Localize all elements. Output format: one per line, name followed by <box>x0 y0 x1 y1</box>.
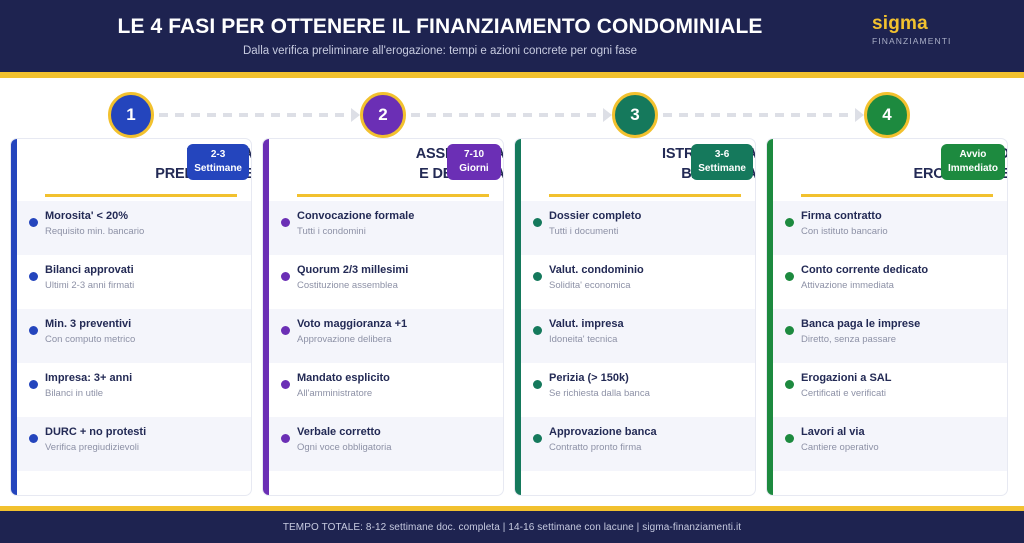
checklist-item[interactable]: Erogazioni a SALCertificati e verificati <box>773 363 1008 417</box>
checklist-item-subtitle: Bilanci in utile <box>45 388 243 399</box>
checklist-item[interactable]: Approvazione bancaContratto pronto firma <box>521 417 756 471</box>
header-title-group: LE 4 FASI PER OTTENERE IL FINANZIAMENTO … <box>0 0 880 72</box>
checklist-item-title: Conto corrente dedicato <box>801 264 999 277</box>
timeline-node-label: 3 <box>630 105 639 125</box>
checklist-item-title: Banca paga le imprese <box>801 318 999 331</box>
bullet-dot-icon <box>29 434 38 443</box>
checklist-item-subtitle: Ogni voce obbligatoria <box>297 442 495 453</box>
timeline-node-3[interactable]: 3 <box>612 92 658 138</box>
checklist-item-subtitle: Costituzione assemblea <box>297 280 495 291</box>
phase-duration-badge: 3-6Settimane <box>691 144 753 180</box>
phase-cards-container: VERIFICAPRELIMINARE2-3SettimaneMorosita'… <box>0 138 1024 500</box>
checklist-item[interactable]: Min. 3 preventiviCon computo metrico <box>17 309 252 363</box>
checklist-item[interactable]: Perizia (> 150k)Se richiesta dalla banca <box>521 363 756 417</box>
phase-card-3[interactable]: ISTRUTTORIABANCARIA3-6SettimaneDossier c… <box>514 138 756 496</box>
checklist-item[interactable]: Convocazione formaleTutti i condomini <box>269 201 504 255</box>
phase-card-header: FIRMA EDEROGAZIONEAvvioImmediato <box>773 139 1008 197</box>
checklist-item[interactable]: Conto corrente dedicatoAttivazione immed… <box>773 255 1008 309</box>
checklist-item-title: Valut. condominio <box>549 264 747 277</box>
bullet-dot-icon <box>29 326 38 335</box>
timeline-node-4[interactable]: 4 <box>864 92 910 138</box>
checklist-item-subtitle: Cantiere operativo <box>801 442 999 453</box>
brand-logo: sigma FINANZIAMENTI <box>872 14 1002 46</box>
brand-logo-name: sigma <box>872 14 1002 33</box>
checklist-item-subtitle: Tutti i documenti <box>549 226 747 237</box>
phase-checklist: Convocazione formaleTutti i condominiQuo… <box>269 201 504 471</box>
phase-checklist: Morosita' < 20%Requisito min. bancarioBi… <box>17 201 252 471</box>
phase-duration-value: Avvio <box>948 148 998 162</box>
checklist-item[interactable]: Mandato esplicitoAll'amministratore <box>269 363 504 417</box>
checklist-item-subtitle: Solidita' economica <box>549 280 747 291</box>
checklist-item-title: Lavori al via <box>801 426 999 439</box>
phase-duration-badge: 2-3Settimane <box>187 144 249 180</box>
checklist-item-subtitle: Diretto, senza passare <box>801 334 999 345</box>
phase-duration-unit: Immediato <box>948 162 998 176</box>
checklist-item[interactable]: Impresa: 3+ anniBilanci in utile <box>17 363 252 417</box>
checklist-item-title: Min. 3 preventivi <box>45 318 243 331</box>
checklist-item[interactable]: Valut. impresaIdoneita' tecnica <box>521 309 756 363</box>
phase-card-header: VERIFICAPRELIMINARE2-3Settimane <box>17 139 252 197</box>
checklist-item-subtitle: Contratto pronto firma <box>549 442 747 453</box>
bullet-dot-icon <box>29 218 38 227</box>
timeline-node-2[interactable]: 2 <box>360 92 406 138</box>
checklist-item[interactable]: Dossier completoTutti i documenti <box>521 201 756 255</box>
phase-checklist: Firma contrattoCon istituto bancarioCont… <box>773 201 1008 471</box>
phase-duration-badge: 7-10Giorni <box>447 144 501 180</box>
phase-timeline: 1234 <box>0 92 1024 144</box>
bullet-dot-icon <box>785 326 794 335</box>
checklist-item[interactable]: Bilanci approvatiUltimi 2-3 anni firmati <box>17 255 252 309</box>
phase-checklist: Dossier completoTutti i documentiValut. … <box>521 201 756 471</box>
bullet-dot-icon <box>533 434 542 443</box>
header-accent-bar <box>0 72 1024 78</box>
checklist-item-subtitle: Idoneita' tecnica <box>549 334 747 345</box>
bullet-dot-icon <box>29 272 38 281</box>
phase-duration-unit: Settimane <box>698 162 746 176</box>
phase-card-header: ISTRUTTORIABANCARIA3-6Settimane <box>521 139 756 197</box>
bullet-dot-icon <box>281 380 290 389</box>
bullet-dot-icon <box>281 272 290 281</box>
page-title: LE 4 FASI PER OTTENERE IL FINANZIAMENTO … <box>118 15 763 38</box>
bullet-dot-icon <box>785 434 794 443</box>
checklist-item[interactable]: Firma contrattoCon istituto bancario <box>773 201 1008 255</box>
checklist-item-subtitle: Verifica pregiudizievoli <box>45 442 243 453</box>
checklist-item-title: Convocazione formale <box>297 210 495 223</box>
timeline-connector-2 <box>411 113 603 117</box>
checklist-item[interactable]: Valut. condominioSolidita' economica <box>521 255 756 309</box>
phase-card-1[interactable]: VERIFICAPRELIMINARE2-3SettimaneMorosita'… <box>10 138 252 496</box>
checklist-item[interactable]: Voto maggioranza +1Approvazione delibera <box>269 309 504 363</box>
checklist-item[interactable]: Lavori al viaCantiere operativo <box>773 417 1008 471</box>
checklist-item-subtitle: Approvazione delibera <box>297 334 495 345</box>
page-footer: TEMPO TOTALE: 8-12 settimane doc. comple… <box>0 511 1024 543</box>
checklist-item[interactable]: Quorum 2/3 millesimiCostituzione assembl… <box>269 255 504 309</box>
checklist-item-subtitle: Attivazione immediata <box>801 280 999 291</box>
brand-logo-tagline: FINANZIAMENTI <box>872 37 1002 46</box>
bullet-dot-icon <box>29 380 38 389</box>
checklist-item-title: Morosita' < 20% <box>45 210 243 223</box>
checklist-item-title: Erogazioni a SAL <box>801 372 999 385</box>
checklist-item-title: Voto maggioranza +1 <box>297 318 495 331</box>
bullet-dot-icon <box>533 326 542 335</box>
checklist-item-subtitle: Requisito min. bancario <box>45 226 243 237</box>
timeline-node-label: 1 <box>126 105 135 125</box>
bullet-dot-icon <box>533 380 542 389</box>
page-header: LE 4 FASI PER OTTENERE IL FINANZIAMENTO … <box>0 0 1024 72</box>
checklist-item-subtitle: Ultimi 2-3 anni firmati <box>45 280 243 291</box>
bullet-dot-icon <box>785 272 794 281</box>
phase-duration-badge: AvvioImmediato <box>941 144 1005 180</box>
checklist-item-title: Dossier completo <box>549 210 747 223</box>
checklist-item-title: Bilanci approvati <box>45 264 243 277</box>
timeline-arrow-1 <box>351 108 360 122</box>
page-subtitle: Dalla verifica preliminare all'erogazion… <box>243 45 637 57</box>
timeline-arrow-3 <box>855 108 864 122</box>
checklist-item-title: Impresa: 3+ anni <box>45 372 243 385</box>
checklist-item[interactable]: Morosita' < 20%Requisito min. bancario <box>17 201 252 255</box>
checklist-item-subtitle: All'amministratore <box>297 388 495 399</box>
bullet-dot-icon <box>785 380 794 389</box>
phase-card-2[interactable]: ASSEMBLEAE DELIBERA7-10GiorniConvocazion… <box>262 138 504 496</box>
checklist-item-subtitle: Tutti i condomini <box>297 226 495 237</box>
phase-duration-value: 2-3 <box>194 148 242 162</box>
bullet-dot-icon <box>281 434 290 443</box>
phase-card-divider <box>297 194 489 197</box>
phase-card-header: ASSEMBLEAE DELIBERA7-10Giorni <box>269 139 504 197</box>
checklist-item-title: DURC + no protesti <box>45 426 243 439</box>
checklist-item-subtitle: Se richiesta dalla banca <box>549 388 747 399</box>
checklist-item-subtitle: Certificati e verificati <box>801 388 999 399</box>
timeline-arrow-2 <box>603 108 612 122</box>
phase-card-divider <box>549 194 741 197</box>
checklist-item-subtitle: Con istituto bancario <box>801 226 999 237</box>
checklist-item-title: Firma contratto <box>801 210 999 223</box>
phase-duration-unit: Settimane <box>194 162 242 176</box>
timeline-node-label: 2 <box>378 105 387 125</box>
checklist-item-title: Verbale corretto <box>297 426 495 439</box>
bullet-dot-icon <box>281 326 290 335</box>
footer-summary-text: TEMPO TOTALE: 8-12 settimane doc. comple… <box>283 522 741 533</box>
timeline-node-1[interactable]: 1 <box>108 92 154 138</box>
checklist-item[interactable]: DURC + no protestiVerifica pregiudizievo… <box>17 417 252 471</box>
checklist-item-title: Mandato esplicito <box>297 372 495 385</box>
phase-duration-unit: Giorni <box>454 162 494 176</box>
checklist-item-subtitle: Con computo metrico <box>45 334 243 345</box>
timeline-node-label: 4 <box>882 105 891 125</box>
phase-card-divider <box>801 194 993 197</box>
checklist-item[interactable]: Verbale correttoOgni voce obbligatoria <box>269 417 504 471</box>
checklist-item-title: Perizia (> 150k) <box>549 372 747 385</box>
phase-duration-value: 3-6 <box>698 148 746 162</box>
bullet-dot-icon <box>785 218 794 227</box>
phase-card-divider <box>45 194 237 197</box>
bullet-dot-icon <box>533 272 542 281</box>
phase-duration-value: 7-10 <box>454 148 494 162</box>
timeline-connector-3 <box>663 113 855 117</box>
checklist-item-title: Valut. impresa <box>549 318 747 331</box>
timeline-connector-1 <box>159 113 351 117</box>
phase-card-4[interactable]: FIRMA EDEROGAZIONEAvvioImmediatoFirma co… <box>766 138 1008 496</box>
bullet-dot-icon <box>281 218 290 227</box>
checklist-item[interactable]: Banca paga le impreseDiretto, senza pass… <box>773 309 1008 363</box>
checklist-item-title: Quorum 2/3 millesimi <box>297 264 495 277</box>
bullet-dot-icon <box>533 218 542 227</box>
checklist-item-title: Approvazione banca <box>549 426 747 439</box>
